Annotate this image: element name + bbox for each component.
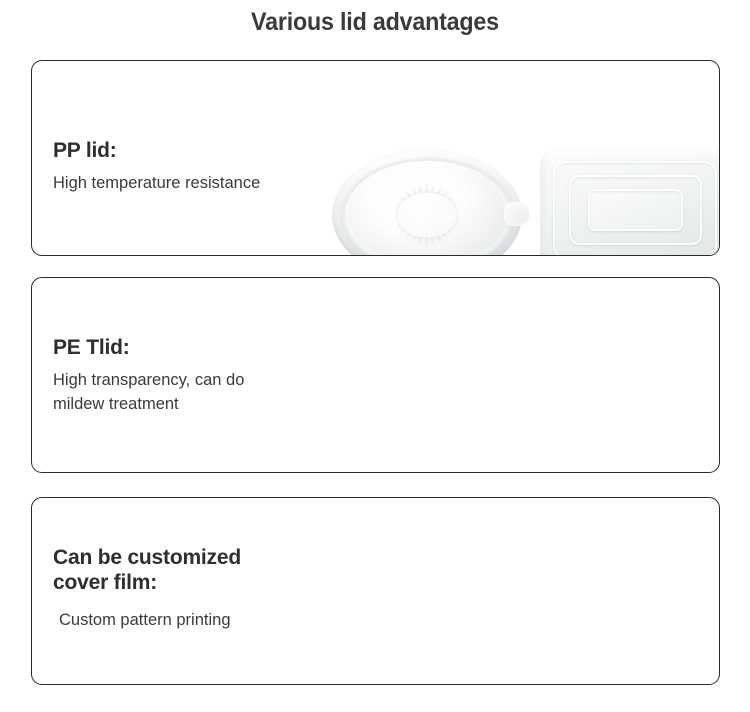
panel-pe-lid: PE Tlid: High transparency, can do milde… (31, 277, 720, 473)
panel-cover-film: Can be customized cover film: Custom pat… (31, 497, 720, 685)
panel-pp-lid-heading: PP lid: (53, 139, 260, 164)
panel-pp-lid-description: High temperature resistance (53, 172, 260, 196)
page-title: Various lid advantages (26, 8, 724, 37)
pp-round-center-hub (398, 193, 457, 238)
panel-pe-lid-heading: PE Tlid: (53, 336, 244, 361)
panel-pp-lid-text: PP lid: High temperature resistance (53, 139, 260, 196)
product-rectangular-pp-lid (540, 149, 720, 256)
pp-round-pull-tab (504, 202, 530, 226)
panel-cover-film-text: Can be customized cover film: Custom pat… (53, 546, 241, 632)
product-round-ribbed-pp-lid (332, 149, 522, 256)
pp-rect-ring-inner (588, 189, 683, 231)
panel-pe-lid-text: PE Tlid: High transparency, can do milde… (53, 336, 244, 417)
panel-pe-lid-description: High transparency, can do mildew treatme… (53, 369, 244, 417)
infographic-page: Various lid advantages PP lid: High temp… (0, 0, 750, 712)
panel-cover-film-heading: Can be customized cover film: (53, 546, 241, 596)
panel-cover-film-description: Custom pattern printing (53, 609, 241, 633)
panel-pp-lid: PP lid: High temperature resistance (31, 60, 720, 256)
